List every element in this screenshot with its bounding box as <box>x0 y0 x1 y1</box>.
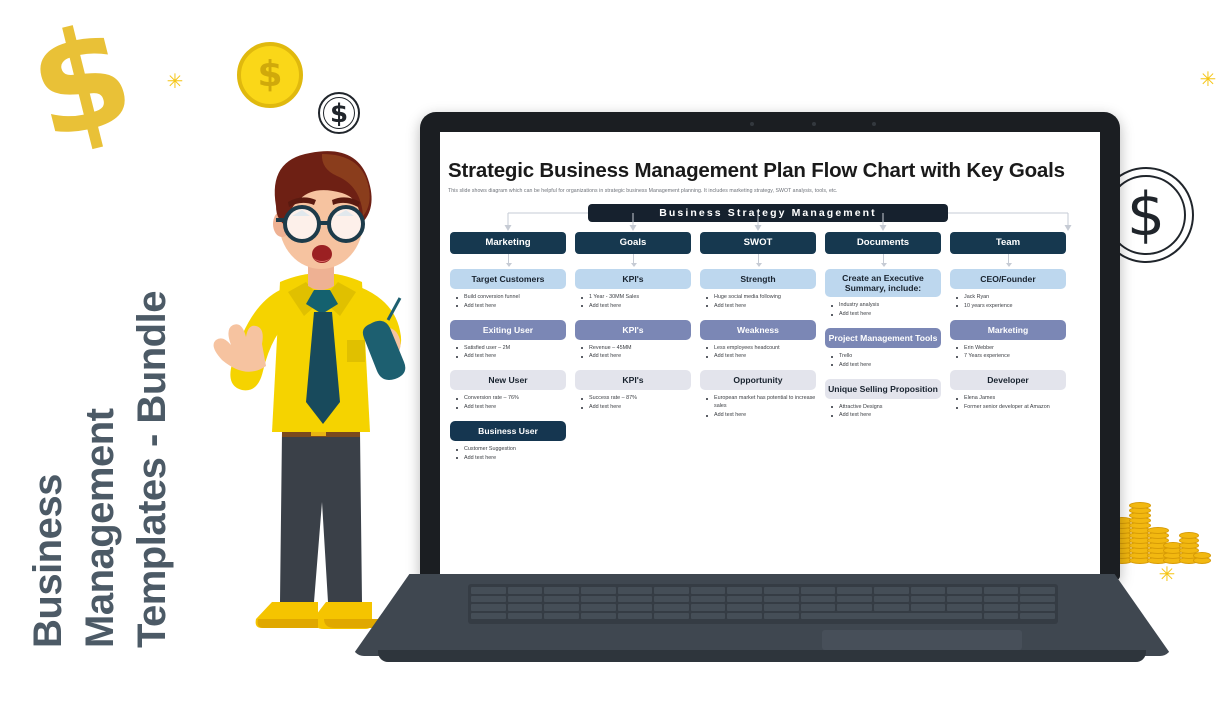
bullet-item: Trello <box>830 353 941 361</box>
keyboard-key <box>947 604 982 611</box>
card-bullets: Jack Ryan 10 years experience <box>950 294 1066 311</box>
keyboard-key <box>837 604 872 611</box>
keyboard-key <box>471 587 506 594</box>
card-bullets: Build conversion funnel Add text here <box>450 294 566 311</box>
keyboard-key <box>544 604 579 611</box>
bullet-item: Erin Webber <box>955 345 1066 353</box>
column-header[interactable]: Documents <box>825 232 941 254</box>
card-marketing-team[interactable]: Marketing Erin Webber 7 Years experience <box>950 320 1066 362</box>
laptop-foot <box>378 650 1146 662</box>
card-project-management-tools[interactable]: Project Management Tools Trello Add text… <box>825 328 941 370</box>
laptop-lid: Strategic Business Management Plan Flow … <box>420 112 1120 580</box>
keyboard-key <box>984 587 1019 594</box>
bullet-item: 1 Year - 30MM Sales <box>580 294 691 302</box>
laptop-mockup: Strategic Business Management Plan Flow … <box>352 112 1172 672</box>
keyboard-key <box>801 596 836 603</box>
column-documents: Documents Create an Executive Summary, i… <box>825 232 941 421</box>
keyboard-key <box>544 613 579 620</box>
keyboard-key <box>1020 587 1055 594</box>
keyboard-key <box>581 604 616 611</box>
bullet-item: Add text here <box>705 303 816 311</box>
keyboard-key <box>1020 604 1055 611</box>
keyboard-key <box>727 596 762 603</box>
card-bullets: Revenue – 45MM Add text here <box>575 345 691 362</box>
keyboard-key <box>544 596 579 603</box>
keyboard-key <box>691 604 726 611</box>
card-strength[interactable]: Strength Huge social media following Add… <box>700 269 816 311</box>
bullet-item: Conversion rate – 76% <box>455 395 566 403</box>
side-title-line-1: Business <box>26 474 71 648</box>
keyboard-key <box>984 604 1019 611</box>
bullet-item: European market has potential to increas… <box>705 395 816 411</box>
card-title: Unique Selling Proposition <box>825 379 941 399</box>
card-bullets: Satisfied user – 2M Add text here <box>450 345 566 362</box>
camera-dot-icon <box>812 122 816 126</box>
bullet-item: Add text here <box>705 412 816 420</box>
bullet-item: Add text here <box>580 404 691 412</box>
keyboard-key <box>1020 613 1055 620</box>
card-bullets: Erin Webber 7 Years experience <box>950 345 1066 362</box>
card-title: Exiting User <box>450 320 566 340</box>
keyboard-key <box>618 613 653 620</box>
card-title: Strength <box>700 269 816 289</box>
keyboard-key <box>691 613 726 620</box>
bullet-item: Add text here <box>705 353 816 361</box>
keyboard-key <box>654 587 689 594</box>
keyboard-key <box>508 596 543 603</box>
arrow-connector <box>575 254 691 269</box>
keyboard-key <box>911 596 946 603</box>
card-kpis-1[interactable]: KPI's 1 Year - 30MM Sales Add text here <box>575 269 691 311</box>
keyboard-key <box>984 613 1019 620</box>
keyboard-key <box>984 596 1019 603</box>
card-title: KPI's <box>575 320 691 340</box>
bullet-item: Add text here <box>455 404 566 412</box>
keyboard-key <box>1020 596 1055 603</box>
column-header[interactable]: Marketing <box>450 232 566 254</box>
side-title-line-3: Templates - Bundle <box>130 291 175 648</box>
card-bullets: Industry analysis Add text here <box>825 302 941 319</box>
keyboard-key <box>764 604 799 611</box>
keyboard-key <box>947 587 982 594</box>
arrow-connector <box>825 254 941 269</box>
bullet-item: Less employees headcount <box>705 345 816 353</box>
bullet-item: Customer Suggestion <box>455 446 566 454</box>
keyboard-key <box>911 587 946 594</box>
arrow-connector <box>700 254 816 269</box>
bullet-item: Success rate – 87% <box>580 395 691 403</box>
card-bullets: Success rate – 87% Add text here <box>575 395 691 412</box>
column-goals: Goals KPI's 1 Year - 30MM Sales Add text… <box>575 232 691 413</box>
camera-dot-icon <box>872 122 876 126</box>
keyboard-key <box>727 587 762 594</box>
keyboard-key <box>764 613 799 620</box>
bullet-item: 7 Years experience <box>955 353 1066 361</box>
card-title: CEO/Founder <box>950 269 1066 289</box>
bullet-item: 10 years experience <box>955 303 1066 311</box>
keyboard-key <box>837 596 872 603</box>
laptop-screen: Strategic Business Management Plan Flow … <box>440 132 1100 574</box>
keyboard-key <box>581 596 616 603</box>
laptop-keyboard <box>468 584 1058 624</box>
card-ceo-founder[interactable]: CEO/Founder Jack Ryan 10 years experienc… <box>950 269 1066 311</box>
keyboard-key <box>874 587 909 594</box>
card-title: Target Customers <box>450 269 566 289</box>
laptop-trackpad <box>822 630 1022 650</box>
keyboard-key <box>508 604 543 611</box>
card-title: Developer <box>950 370 1066 390</box>
side-title-line-2: Management <box>78 409 123 649</box>
card-title: Opportunity <box>700 370 816 390</box>
bullet-item: Add text here <box>830 362 941 370</box>
card-title: New User <box>450 370 566 390</box>
coin-icon <box>1193 552 1211 559</box>
card-title: Marketing <box>950 320 1066 340</box>
keyboard-key <box>654 596 689 603</box>
card-bullets: Attractive Designs Add text here <box>825 404 941 421</box>
keyboard-key <box>727 604 762 611</box>
keyboard-key <box>581 613 616 620</box>
card-bullets: Less employees headcount Add text here <box>700 345 816 362</box>
keyboard-key <box>874 604 909 611</box>
camera-dot-icon <box>750 122 754 126</box>
bullet-item: Elena James <box>955 395 1066 403</box>
column-team: Team CEO/Founder Jack Ryan 10 years expe… <box>950 232 1066 413</box>
column-header[interactable]: Goals <box>575 232 691 254</box>
bullet-item: Add text here <box>455 353 566 361</box>
bullet-item: Revenue – 45MM <box>580 345 691 353</box>
bullet-item: Build conversion funnel <box>455 294 566 302</box>
keyboard-key <box>544 587 579 594</box>
arrow-connector <box>450 254 566 269</box>
card-business-user[interactable]: Business User Customer Suggestion Add te… <box>450 421 566 463</box>
bullet-item: Add text here <box>830 412 941 420</box>
card-title: KPI's <box>575 269 691 289</box>
bullet-item: Huge social media following <box>705 294 816 302</box>
keyboard-key <box>618 604 653 611</box>
card-kpis-3[interactable]: KPI's Success rate – 87% Add text here <box>575 370 691 412</box>
card-weakness[interactable]: Weakness Less employees headcount Add te… <box>700 320 816 362</box>
card-bullets: Customer Suggestion Add text here <box>450 446 566 463</box>
column-swot: SWOT Strength Huge social media followin… <box>700 232 816 421</box>
card-new-user[interactable]: New User Conversion rate – 76% Add text … <box>450 370 566 412</box>
keyboard-key <box>654 604 689 611</box>
card-title: KPI's <box>575 370 691 390</box>
keyboard-key <box>618 596 653 603</box>
presentation-slide: Strategic Business Management Plan Flow … <box>440 132 1100 574</box>
keyboard-key <box>618 587 653 594</box>
keyboard-key <box>801 613 982 620</box>
bullet-item: Former senior developer at Amazon <box>955 404 1066 412</box>
card-bullets: 1 Year - 30MM Sales Add text here <box>575 294 691 311</box>
keyboard-key <box>764 596 799 603</box>
column-header[interactable]: SWOT <box>700 232 816 254</box>
keyboard-key <box>764 587 799 594</box>
keyboard-key <box>654 613 689 620</box>
column-marketing: Marketing Target Customers Build convers… <box>450 232 566 464</box>
bullet-item: Industry analysis <box>830 302 941 310</box>
keyboard-key <box>837 587 872 594</box>
coin-dollar-symbol: $ <box>241 46 299 104</box>
keyboard-key <box>874 596 909 603</box>
keyboard-key <box>471 604 506 611</box>
card-title: Business User <box>450 421 566 441</box>
bullet-item: Add text here <box>455 303 566 311</box>
card-developer[interactable]: Developer Elena James Former senior deve… <box>950 370 1066 412</box>
card-kpis-2[interactable]: KPI's Revenue – 45MM Add text here <box>575 320 691 362</box>
keyboard-key <box>691 587 726 594</box>
column-header[interactable]: Team <box>950 232 1066 254</box>
card-target-customers[interactable]: Target Customers Build conversion funnel… <box>450 269 566 311</box>
card-unique-selling-proposition[interactable]: Unique Selling Proposition Attractive De… <box>825 379 941 421</box>
bullet-item: Jack Ryan <box>955 294 1066 302</box>
bullet-item: Add text here <box>580 353 691 361</box>
arrow-connector <box>950 254 1066 269</box>
bullet-item: Satisfied user – 2M <box>455 345 566 353</box>
keyboard-key <box>581 587 616 594</box>
card-bullets: Huge social media following Add text her… <box>700 294 816 311</box>
keyboard-key <box>911 604 946 611</box>
card-bullets: Trello Add text here <box>825 353 941 370</box>
keyboard-key <box>801 604 836 611</box>
keyboard-key <box>691 596 726 603</box>
keyboard-key <box>727 613 762 620</box>
sparkle-icon: ✳ <box>166 72 184 90</box>
card-bullets: Elena James Former senior developer at A… <box>950 395 1066 412</box>
card-title: Create an Executive Summary, include: <box>825 269 941 297</box>
coin-icon <box>1179 532 1199 539</box>
card-bullets: Conversion rate – 76% Add text here <box>450 395 566 412</box>
bullet-item: Add text here <box>455 455 566 463</box>
keyboard-key <box>801 587 836 594</box>
bullet-item: Add text here <box>580 303 691 311</box>
keyboard-key <box>471 596 506 603</box>
keyboard-key <box>471 613 506 620</box>
card-exiting-user[interactable]: Exiting User Satisfied user – 2M Add tex… <box>450 320 566 362</box>
card-title: Project Management Tools <box>825 328 941 348</box>
bullet-item: Add text here <box>830 311 941 319</box>
card-opportunity[interactable]: Opportunity European market has potentia… <box>700 370 816 419</box>
sparkle-icon: ✳ <box>1199 70 1217 88</box>
card-create-executive-summary[interactable]: Create an Executive Summary, include: In… <box>825 269 941 319</box>
keyboard-key <box>947 596 982 603</box>
keyboard-key <box>508 613 543 620</box>
card-title: Weakness <box>700 320 816 340</box>
bullet-item: Attractive Designs <box>830 404 941 412</box>
card-bullets: European market has potential to increas… <box>700 395 816 419</box>
keyboard-key <box>508 587 543 594</box>
gold-coin-icon: $ <box>237 42 303 108</box>
